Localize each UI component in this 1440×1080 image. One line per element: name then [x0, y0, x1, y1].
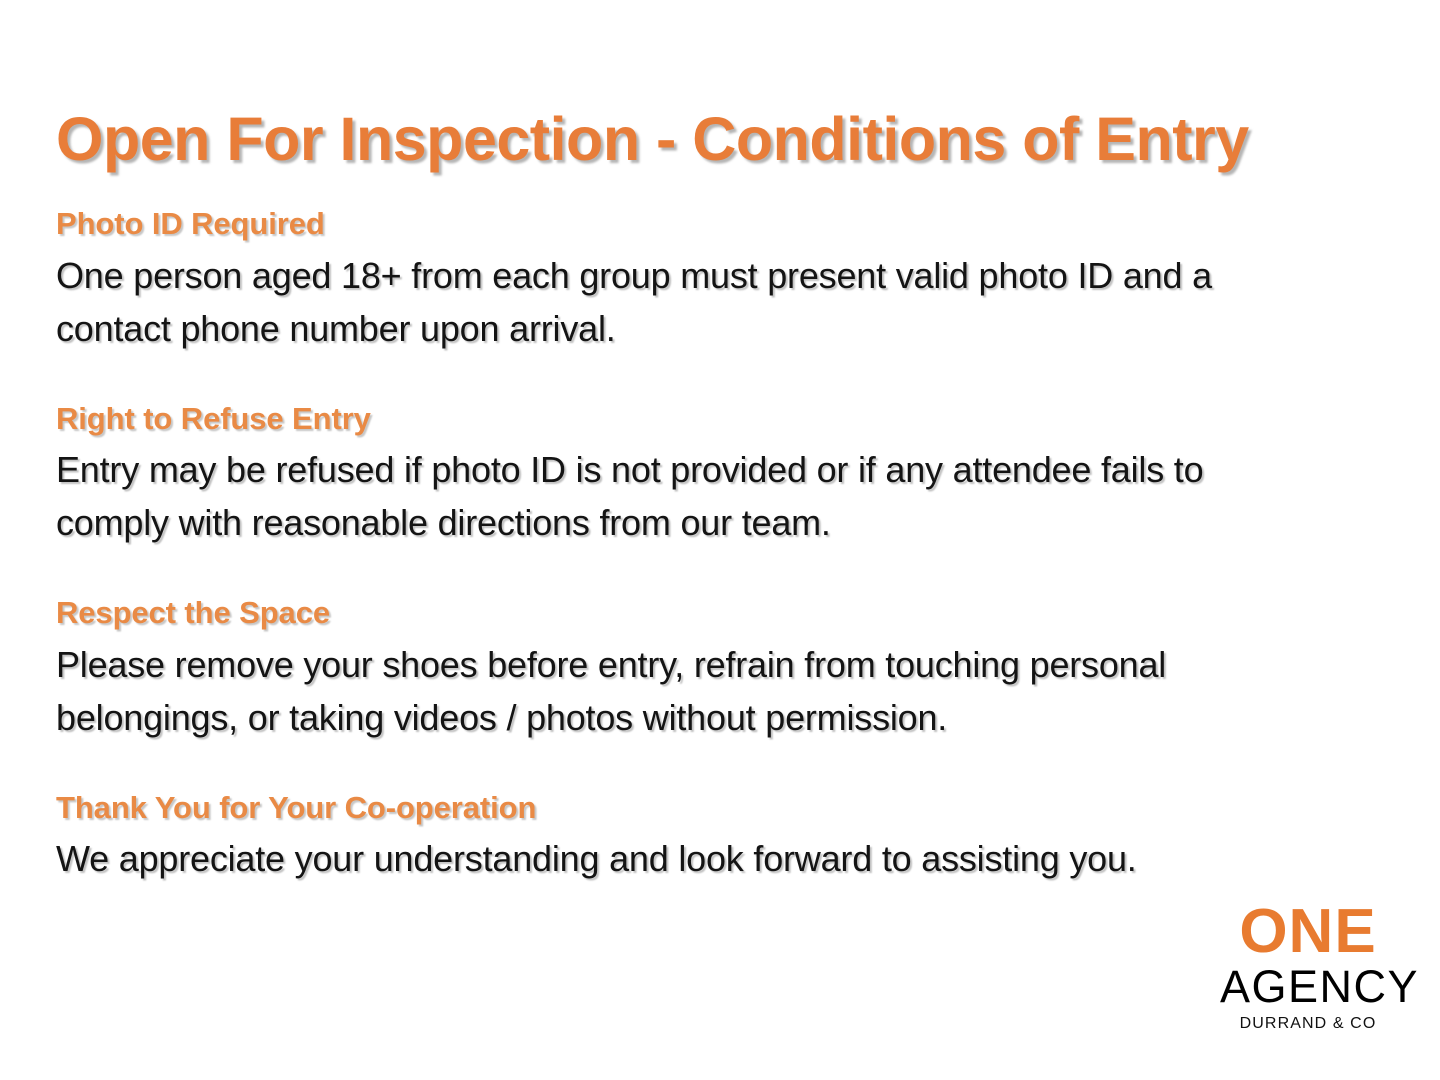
condition-section-respect-space: Respect the Space Please remove your sho… [56, 594, 1306, 745]
page-title: Open For Inspection - Conditions of Entr… [56, 107, 1426, 171]
condition-section-refuse-entry: Right to Refuse Entry Entry may be refus… [56, 400, 1306, 551]
logo-secondary-text: AGENCY [1220, 964, 1396, 1009]
slide-canvas: Open For Inspection - Conditions of Entr… [0, 0, 1440, 1080]
section-body: Please remove your shoes before entry, r… [56, 639, 1306, 745]
section-body: One person aged 18+ from each group must… [56, 250, 1306, 356]
section-heading: Photo ID Required [56, 205, 1306, 244]
logo-tagline-text: DURRAND & CO [1220, 1016, 1396, 1032]
logo-primary-text: ONE [1220, 903, 1396, 962]
one-agency-logo: ONE AGENCY DURRAND & CO [1220, 903, 1396, 1032]
section-heading: Respect the Space [56, 594, 1306, 633]
section-heading: Thank You for Your Co-operation [56, 789, 1306, 828]
section-heading: Right to Refuse Entry [56, 400, 1306, 439]
section-body: Entry may be refused if photo ID is not … [56, 444, 1306, 550]
section-body: We appreciate your understanding and loo… [56, 833, 1306, 886]
conditions-list: Photo ID Required One person aged 18+ fr… [56, 205, 1306, 886]
condition-section-photo-id: Photo ID Required One person aged 18+ fr… [56, 205, 1306, 356]
condition-section-thank-you: Thank You for Your Co-operation We appre… [56, 789, 1306, 887]
